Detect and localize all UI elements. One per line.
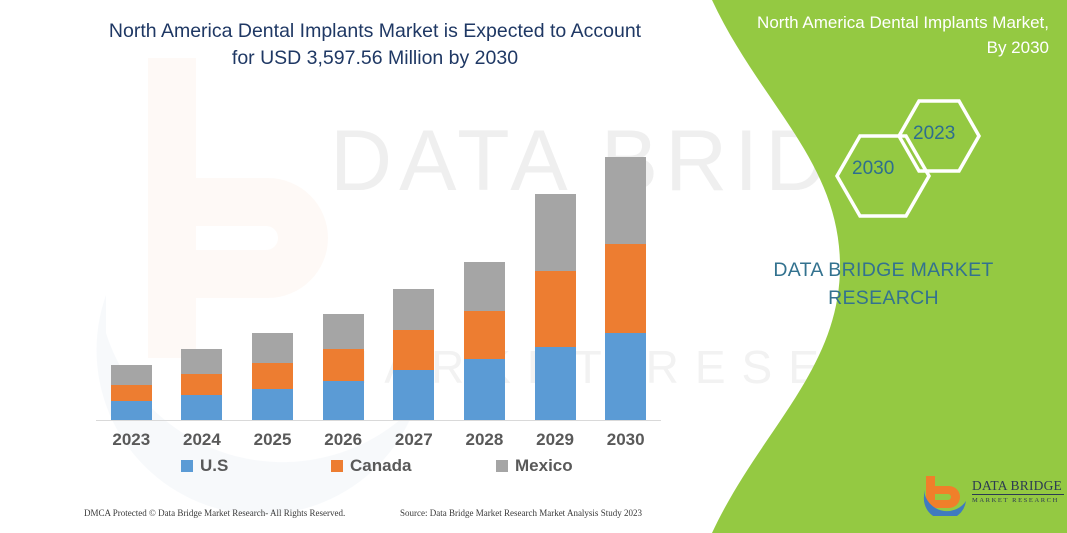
bar-segment-canada-2030 <box>605 244 646 332</box>
bar-segment-mexico-2030 <box>605 157 646 244</box>
right-green-panel: North America Dental Implants Market, By… <box>700 0 1067 533</box>
bar-segment-canada-2029 <box>535 271 576 346</box>
legend-swatch-icon <box>496 460 508 472</box>
legend-label: U.S <box>200 456 228 476</box>
data-bridge-logo-text: DATA BRIDGE MARKET RESEARCH <box>972 478 1064 505</box>
footer-source: Source: Data Bridge Market Research Mark… <box>400 508 642 518</box>
x-axis-tick-labels: 20232024202520262027202820292030 <box>96 430 661 456</box>
x-axis-label-2030: 2030 <box>591 430 661 450</box>
bar-segment-mexico-2025 <box>252 333 293 363</box>
bar-segment-canada-2024 <box>181 374 222 395</box>
hexagon-outlines <box>700 0 1067 220</box>
legend-item-canada[interactable]: Canada <box>331 456 411 476</box>
panel-brand-text: DATA BRIDGE MARKET RESEARCH <box>700 256 1067 312</box>
bar-group-2028 <box>464 262 505 420</box>
bar-segment-canada-2025 <box>252 363 293 389</box>
data-bridge-b-logo <box>922 474 968 516</box>
panel-brand-line2: RESEARCH <box>700 284 1067 312</box>
bar-segment-canada-2026 <box>323 349 364 381</box>
bar-segment-us-2026 <box>323 381 364 420</box>
bar-segment-us-2025 <box>252 389 293 420</box>
footer: DMCA Protected © Data Bridge Market Rese… <box>0 508 700 528</box>
chart-legend: U.SCanadaMexico <box>96 456 661 480</box>
x-axis-label-2027: 2027 <box>379 430 449 450</box>
logo-name: DATA BRIDGE <box>972 478 1064 495</box>
bar-segment-us-2030 <box>605 333 646 420</box>
legend-label: Mexico <box>515 456 573 476</box>
x-axis-line <box>96 420 661 421</box>
x-axis-label-2028: 2028 <box>449 430 519 450</box>
bar-segment-mexico-2028 <box>464 262 505 310</box>
bar-segment-canada-2028 <box>464 311 505 359</box>
x-axis-label-2025: 2025 <box>238 430 308 450</box>
bar-segment-mexico-2027 <box>393 289 434 330</box>
legend-swatch-icon <box>331 460 343 472</box>
bar-segment-mexico-2029 <box>535 194 576 271</box>
logo-tagline: MARKET RESEARCH <box>972 497 1064 505</box>
legend-item-mexico[interactable]: Mexico <box>496 456 573 476</box>
bar-segment-canada-2023 <box>111 385 152 401</box>
bar-group-2024 <box>181 349 222 420</box>
infographic-page: DATA BRIDGE MARKET RESEARCH North Americ… <box>0 0 1067 533</box>
x-axis-label-2023: 2023 <box>96 430 166 450</box>
chart: 20232024202520262027202820292030 U.SCana… <box>0 0 700 533</box>
legend-item-us[interactable]: U.S <box>181 456 228 476</box>
legend-swatch-icon <box>181 460 193 472</box>
bar-segment-mexico-2023 <box>111 365 152 385</box>
bar-segment-us-2029 <box>535 347 576 420</box>
bar-segment-mexico-2026 <box>323 314 364 349</box>
data-bridge-logo: DATA BRIDGE MARKET RESEARCH <box>922 472 1062 518</box>
bar-segment-us-2024 <box>181 395 222 420</box>
bar-segment-mexico-2024 <box>181 349 222 374</box>
bar-segment-us-2028 <box>464 359 505 420</box>
panel-brand-line1: DATA BRIDGE MARKET <box>773 259 993 281</box>
legend-label: Canada <box>350 456 411 476</box>
bar-group-2027 <box>393 289 434 420</box>
bar-group-2030 <box>605 157 646 420</box>
chart-plot-area <box>96 120 661 420</box>
x-axis-label-2029: 2029 <box>520 430 590 450</box>
bar-segment-us-2023 <box>111 401 152 420</box>
hexagon-2023-label: 2023 <box>913 123 955 145</box>
x-axis-label-2024: 2024 <box>167 430 237 450</box>
bar-segment-us-2027 <box>393 370 434 420</box>
bar-group-2023 <box>111 365 152 420</box>
bar-group-2029 <box>535 194 576 420</box>
bar-group-2025 <box>252 333 293 420</box>
hexagon-2030-label: 2030 <box>852 158 894 180</box>
footer-copyright: DMCA Protected © Data Bridge Market Rese… <box>84 508 345 518</box>
bar-segment-canada-2027 <box>393 330 434 370</box>
hexagon-group: 2030 2023 <box>700 0 1067 220</box>
bar-group-2026 <box>323 314 364 420</box>
x-axis-label-2026: 2026 <box>308 430 378 450</box>
